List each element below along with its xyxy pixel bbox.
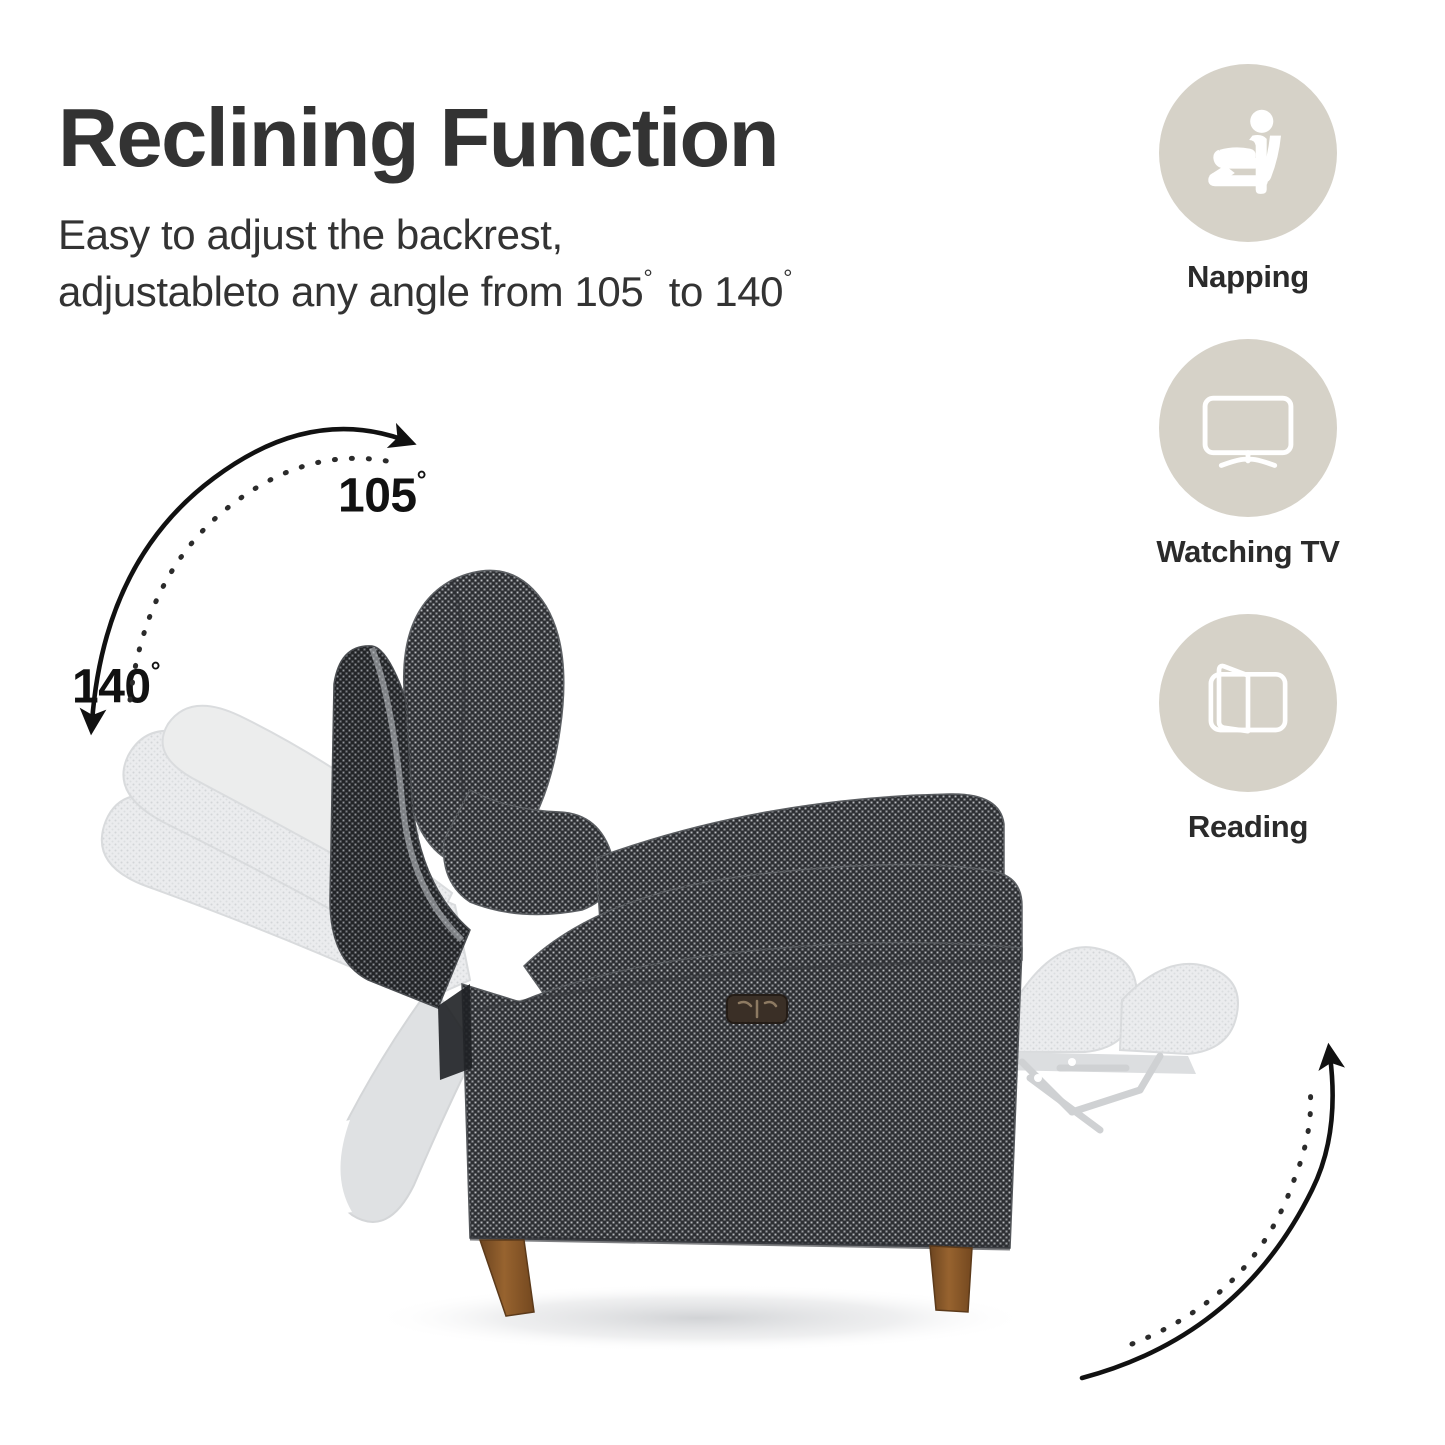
infographic-page: Reclining Function Easy to adjust the ba… [0, 0, 1445, 1445]
product-illustration [0, 0, 1445, 1445]
floor-shadow [370, 1284, 1030, 1352]
footrest-extend-arrow [1082, 1056, 1333, 1378]
footrest-arrow-solid [1082, 1056, 1333, 1378]
recliner-chair [330, 570, 1022, 1316]
chair-leg-rear [930, 1246, 972, 1312]
ghost-extended-footrest [1000, 947, 1238, 1130]
chair-lumbar-cushion [444, 790, 614, 915]
